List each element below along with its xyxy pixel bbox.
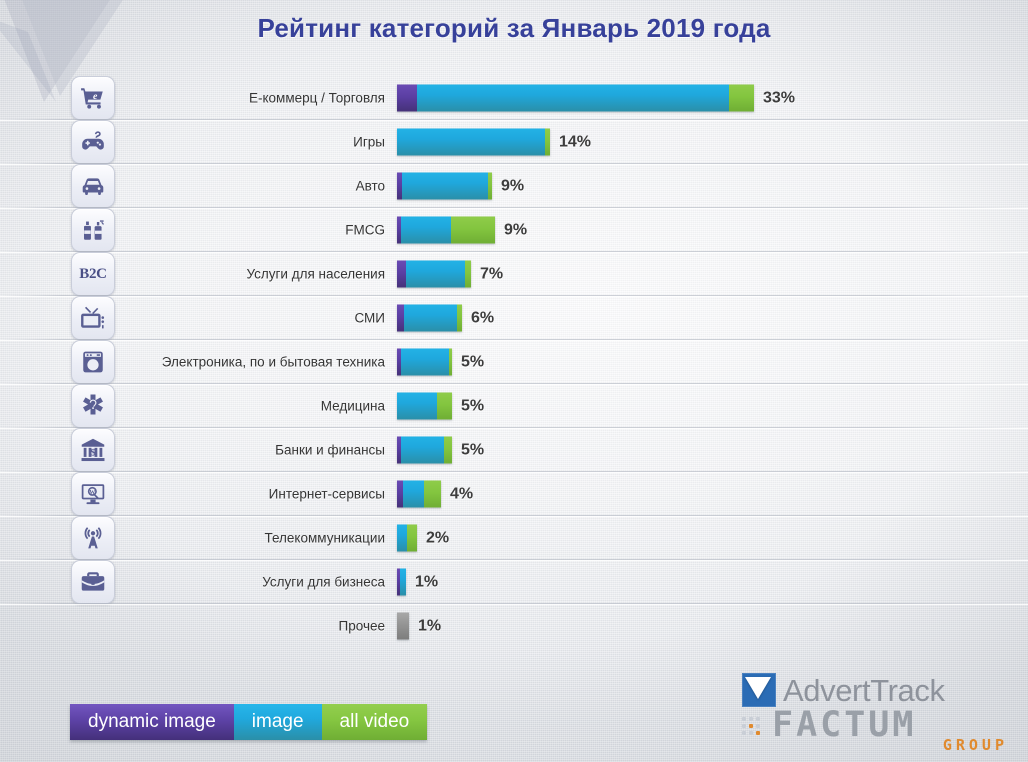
chart-row: Авто9%: [0, 164, 1028, 208]
stacked-bar[interactable]: [397, 349, 452, 376]
page-title: Рейтинг категорий за Январь 2019 года: [0, 13, 1028, 44]
stacked-bar[interactable]: [397, 129, 550, 156]
bar-segment-all-video: [444, 437, 452, 464]
category-label: Медицина: [321, 399, 385, 414]
legend-item-all-video[interactable]: all video: [322, 704, 428, 740]
category-label: FMCG: [345, 223, 385, 238]
category-label: Телекоммуникации: [265, 531, 386, 546]
bar-segment-image: [401, 437, 444, 464]
value-label: 33%: [763, 89, 795, 107]
stacked-bar[interactable]: [397, 173, 492, 200]
category-label: СМИ: [354, 311, 385, 326]
bar-segment-all-video: [465, 261, 471, 288]
bar-container: 5%: [397, 349, 484, 376]
category-label: Авто: [356, 179, 385, 194]
value-label: 6%: [471, 309, 494, 327]
bar-container: 9%: [397, 173, 524, 200]
value-label: 1%: [418, 617, 441, 635]
category-label: Е-коммерц / Торговля: [249, 91, 385, 106]
chart-row: WИнтернет-сервисы4%: [0, 472, 1028, 516]
stacked-bar[interactable]: [397, 217, 495, 244]
bar-container: 1%: [397, 569, 438, 596]
bar-segment-image: [397, 525, 407, 552]
bar-container: 1%: [397, 613, 441, 640]
bar-segment-all-video: [449, 349, 452, 376]
category-label: Услуги для населения: [246, 267, 385, 282]
bottles-spray-icon: [71, 208, 115, 252]
bar-segment-all-video: [424, 481, 441, 508]
medical-star-icon: [71, 384, 115, 428]
chart-row: Услуги для бизнеса1%: [0, 560, 1028, 604]
bar-segment-image: [417, 85, 729, 112]
chart-legend: dynamic image image all video: [70, 704, 427, 740]
legend-item-image[interactable]: image: [234, 704, 322, 740]
chart-row: $Банки и финансы5%: [0, 428, 1028, 472]
bar-segment-other: [397, 613, 409, 640]
shopping-cart-e-icon: e: [71, 76, 115, 120]
bar-segment-image: [406, 261, 465, 288]
bar-segment-image: [397, 393, 437, 420]
adverttrack-arrow-icon: [742, 673, 776, 707]
bar-container: 2%: [397, 525, 449, 552]
svg-text:$: $: [91, 448, 96, 459]
briefcase-icon: [71, 560, 115, 604]
bar-container: 6%: [397, 305, 494, 332]
value-label: 5%: [461, 441, 484, 459]
bar-container: 9%: [397, 217, 527, 244]
radio-tower-icon: [71, 516, 115, 560]
stacked-bar[interactable]: [397, 481, 441, 508]
bar-segment-all-video: [545, 129, 550, 156]
bar-segment-image: [402, 173, 488, 200]
stacked-bar[interactable]: [397, 569, 406, 596]
bar-segment-dynamic-image: [397, 305, 404, 332]
tv-icon: [71, 296, 115, 340]
logo-group-text: GROUP: [943, 736, 1008, 754]
bar-segment-image: [400, 569, 406, 596]
chart-row: СМИ6%: [0, 296, 1028, 340]
chart-row: eЕ-коммерц / Торговля33%: [0, 76, 1028, 120]
bar-segment-all-video: [488, 173, 492, 200]
category-label: Игры: [353, 135, 385, 150]
bar-segment-image: [401, 349, 449, 376]
bar-segment-image: [404, 305, 457, 332]
bar-segment-image: [401, 217, 451, 244]
logo-brand-text: AdvertTrack: [783, 675, 945, 706]
bar-segment-all-video: [437, 393, 452, 420]
value-label: 14%: [559, 133, 591, 151]
category-label: Банки и финансы: [275, 443, 385, 458]
washing-machine-icon: [71, 340, 115, 384]
bar-container: 5%: [397, 393, 484, 420]
monitor-w-icon: W: [71, 472, 115, 516]
b2c-text-icon: B2C: [71, 252, 115, 296]
bar-container: 7%: [397, 261, 503, 288]
legend-item-dynamic-image[interactable]: dynamic image: [70, 704, 234, 740]
chart-row: Телекоммуникации2%: [0, 516, 1028, 560]
stacked-bar[interactable]: [397, 437, 452, 464]
bar-segment-image: [397, 129, 545, 156]
svg-text:e: e: [93, 91, 98, 102]
stacked-bar[interactable]: [397, 525, 417, 552]
logo-adverttrack: AdvertTrack: [742, 670, 1010, 710]
bar-segment-all-video: [729, 85, 754, 112]
stacked-bar[interactable]: [397, 261, 471, 288]
bar-segment-all-video: [457, 305, 462, 332]
bar-container: 33%: [397, 85, 795, 112]
bar-segment-all-video: [451, 217, 495, 244]
bank-icon: $: [71, 428, 115, 472]
value-label: 2%: [426, 529, 449, 547]
category-label: Прочее: [339, 619, 385, 634]
category-label: Электроника, по и бытовая техника: [162, 355, 385, 370]
value-label: 5%: [461, 397, 484, 415]
stacked-bar[interactable]: [397, 613, 409, 640]
bar-segment-image: [403, 481, 424, 508]
chart-row: Электроника, по и бытовая техника5%: [0, 340, 1028, 384]
gamepad-icon: [71, 120, 115, 164]
bar-segment-all-video: [407, 525, 417, 552]
chart-row: FMCG9%: [0, 208, 1028, 252]
value-label: 9%: [504, 221, 527, 239]
bar-segment-dynamic-image: [397, 85, 417, 112]
value-label: 1%: [415, 573, 438, 591]
category-label: Интернет-сервисы: [269, 487, 385, 502]
chart-row: Медицина5%: [0, 384, 1028, 428]
value-label: 4%: [450, 485, 473, 503]
logo-factum: FACTUM GROUP: [742, 708, 1010, 750]
logo-company-text: FACTUM: [772, 708, 916, 743]
bar-segment-dynamic-image: [397, 261, 406, 288]
chart-row: Прочее1%: [0, 604, 1028, 648]
bar-container: 14%: [397, 129, 591, 156]
category-label: Услуги для бизнеса: [262, 575, 385, 590]
bar-container: 5%: [397, 437, 484, 464]
bar-container: 4%: [397, 481, 473, 508]
value-label: 9%: [501, 177, 524, 195]
value-label: 5%: [461, 353, 484, 371]
chart-row: B2CУслуги для населения7%: [0, 252, 1028, 296]
stacked-bar[interactable]: [397, 393, 452, 420]
category-rating-chart: eЕ-коммерц / Торговля33%Игры14%Авто9%FMC…: [0, 76, 1028, 648]
stacked-bar[interactable]: [397, 305, 462, 332]
factum-dots-icon: [742, 717, 768, 739]
logo-adverttrack-factum-group: AdvertTrack FACTUM GROUP: [742, 670, 1010, 754]
car-icon: [71, 164, 115, 208]
value-label: 7%: [480, 265, 503, 283]
stacked-bar[interactable]: [397, 85, 754, 112]
chart-row: Игры14%: [0, 120, 1028, 164]
